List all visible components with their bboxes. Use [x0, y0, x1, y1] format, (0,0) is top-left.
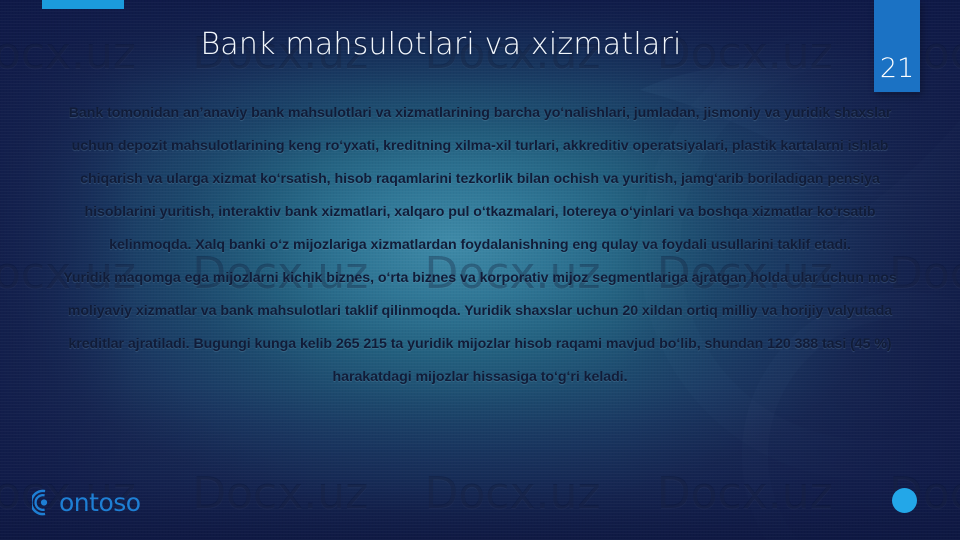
contoso-logo: ontoso	[32, 487, 141, 518]
contoso-logo-text: ontoso	[59, 488, 141, 517]
presentation-slide: Docx.uz Docx.uz Docx.uz Docx.uz Docx Doc…	[0, 0, 960, 540]
body-paragraph-1: Bank tomonidan an’anaviy bank mahsulotla…	[46, 97, 914, 262]
body-paragraph-2: Yuridik maqomga ega mijozlarni kichik bi…	[46, 262, 914, 394]
accent-bar	[42, 0, 124, 9]
slide-body: Bank tomonidan an’anaviy bank mahsulotla…	[46, 97, 914, 394]
corner-dot-decoration	[892, 488, 917, 513]
slide-title: Bank mahsulotlari va xizmatlari	[0, 27, 960, 62]
